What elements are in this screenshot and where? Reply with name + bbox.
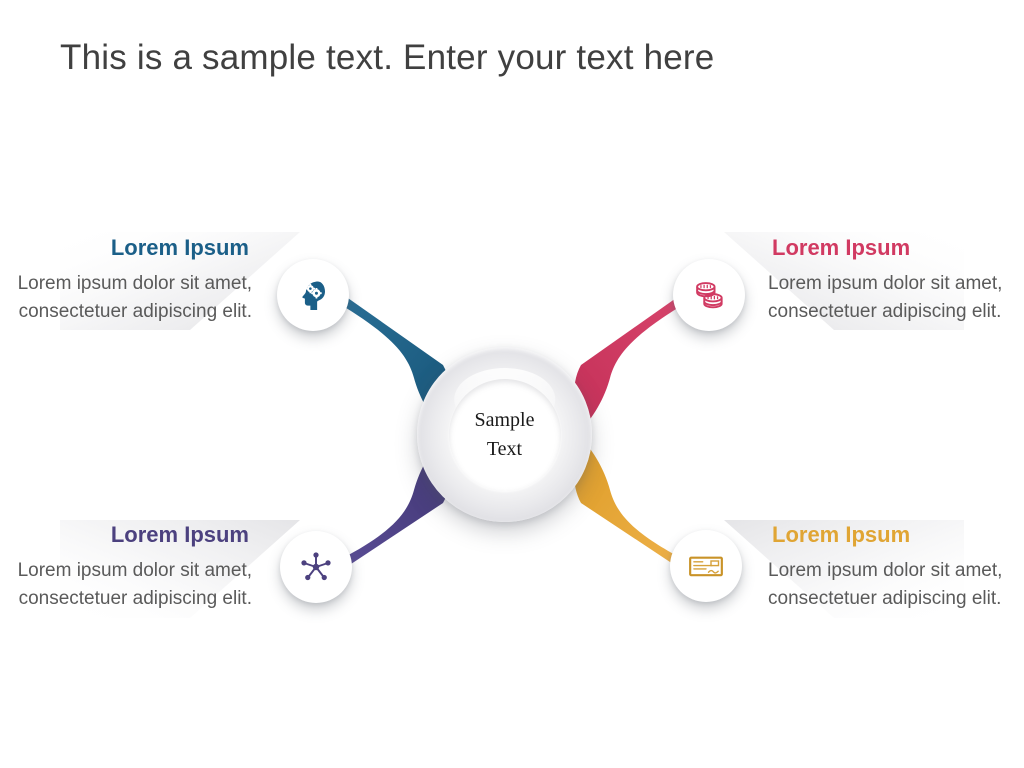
segment-heading-top-left: Lorem Ipsum [0,236,252,260]
hub-label: Sample Text [449,379,561,491]
icon-bubble-top-left[interactable] [277,259,349,331]
bank-check-icon [686,546,726,586]
hub-label-line-2: Text [487,435,522,464]
segment-top-left: Lorem Ipsum Lorem ipsum dolor sit amet, … [0,236,252,325]
segment-bottom-right: Lorem Ipsum Lorem ipsum dolor sit amet, … [768,523,1020,612]
icon-bubble-bottom-left[interactable] [280,531,352,603]
head-gears-icon [295,277,331,313]
slide-canvas: This is a sample text. Enter your text h… [0,0,1024,768]
segment-heading-bottom-right: Lorem Ipsum [768,523,1020,547]
segment-body-top-right: Lorem ipsum dolor sit amet, consectetuer… [768,270,1020,325]
center-hub[interactable]: Sample Text [417,347,592,522]
network-hub-icon [298,549,334,585]
segment-heading-bottom-left: Lorem Ipsum [0,523,252,547]
segment-body-top-left: Lorem ipsum dolor sit amet, consectetuer… [0,270,252,325]
segment-heading-top-right: Lorem Ipsum [768,236,1020,260]
hub-label-line-1: Sample [475,406,535,435]
segment-bottom-left: Lorem Ipsum Lorem ipsum dolor sit amet, … [0,523,252,612]
icon-bubble-bottom-right[interactable] [670,530,742,602]
segment-top-right: Lorem Ipsum Lorem ipsum dolor sit amet, … [768,236,1020,325]
coins-stack-icon [690,276,728,314]
hub-and-spoke-diagram: Sample Text [0,0,1024,768]
segment-body-bottom-right: Lorem ipsum dolor sit amet, consectetuer… [768,557,1020,612]
icon-bubble-top-right[interactable] [673,259,745,331]
segment-body-bottom-left: Lorem ipsum dolor sit amet, consectetuer… [0,557,252,612]
